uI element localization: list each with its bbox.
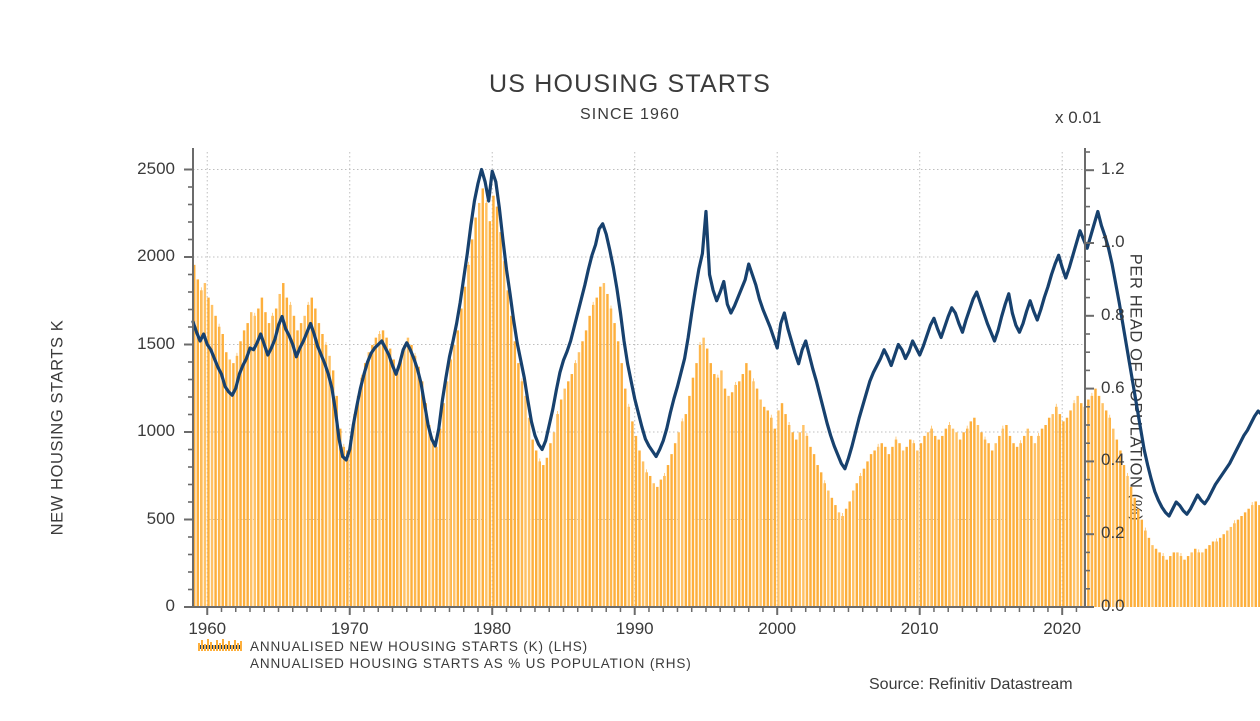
- chart-plot-area: [0, 0, 1260, 721]
- legend-label-population-share: ANNUALISED HOUSING STARTS AS % US POPULA…: [250, 656, 692, 671]
- left-axis-tick-0: 0: [103, 596, 175, 616]
- right-axis-tick-0.4: 0.4: [1101, 450, 1173, 470]
- left-axis-tick-1500: 1500: [103, 334, 175, 354]
- left-axis-tick-500: 500: [103, 509, 175, 529]
- x-axis-tick-1960: 1960: [162, 619, 252, 639]
- left-axis-tick-2000: 2000: [103, 246, 175, 266]
- right-axis-tick-1.2: 1.2: [1101, 159, 1173, 179]
- left-axis-tick-1000: 1000: [103, 421, 175, 441]
- bar-series-population: [193, 188, 1260, 607]
- chart-legend: ANNUALISED NEW HOUSING STARTS (K) (LHS) …: [198, 638, 692, 672]
- left-axis-tick-2500: 2500: [103, 159, 175, 179]
- x-axis-tick-2020: 2020: [1017, 619, 1107, 639]
- right-axis-tick-0.2: 0.2: [1101, 523, 1173, 543]
- right-axis-tick-1.0: 1.0: [1101, 232, 1173, 252]
- x-axis-tick-2000: 2000: [732, 619, 822, 639]
- x-axis-tick-1970: 1970: [305, 619, 395, 639]
- bars-swatch-icon: [198, 657, 242, 670]
- legend-item-population-share[interactable]: ANNUALISED HOUSING STARTS AS % US POPULA…: [198, 655, 692, 672]
- legend-label-housing-starts: ANNUALISED NEW HOUSING STARTS (K) (LHS): [250, 639, 588, 654]
- right-axis-tick-0.0: 0.0: [1101, 596, 1173, 616]
- x-axis-tick-1990: 1990: [590, 619, 680, 639]
- x-axis-tick-2010: 2010: [875, 619, 965, 639]
- x-axis-tick-1980: 1980: [447, 619, 537, 639]
- legend-item-housing-starts[interactable]: ANNUALISED NEW HOUSING STARTS (K) (LHS): [198, 638, 692, 655]
- right-axis-tick-0.6: 0.6: [1101, 378, 1173, 398]
- right-axis-tick-0.8: 0.8: [1101, 305, 1173, 325]
